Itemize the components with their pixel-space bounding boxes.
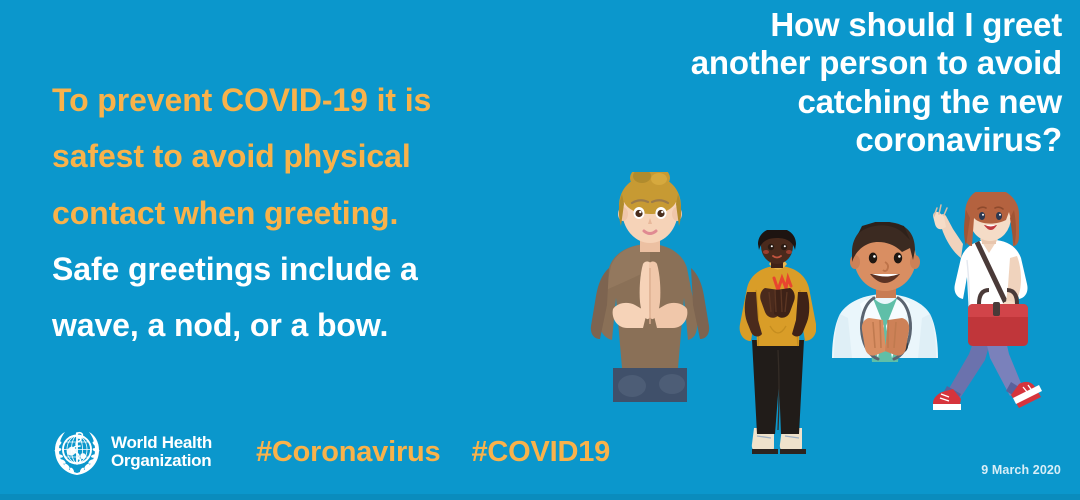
who-wordmark: World Health Organization — [111, 434, 212, 470]
who-wordmark-line-1: World Health — [111, 434, 212, 452]
doctor-hands-on-chest-greeting-figure — [828, 222, 943, 374]
woman-namaste-greeting-figure — [580, 172, 720, 407]
advice-line-5: wave, a nod, or a bow. — [52, 297, 572, 353]
hashtag-group: #Coronavirus #COVID19 — [256, 436, 610, 469]
headline-line-2: another person to avoid — [562, 44, 1062, 82]
headline-question: How should I greet another person to avo… — [562, 6, 1062, 160]
who-wordmark-line-2: Organization — [111, 452, 212, 470]
headline-line-4: coronavirus? — [562, 121, 1062, 159]
hashtag-coronavirus[interactable]: #Coronavirus — [256, 436, 441, 469]
headline-line-3: catching the new — [562, 83, 1062, 121]
footer-branding: World Health Organization #Coronavirus #… — [52, 426, 610, 478]
advice-line-4: Safe greetings include a — [52, 241, 572, 297]
person-hand-on-heart-greeting-figure — [738, 230, 816, 462]
publication-date: 9 March 2020 — [981, 463, 1061, 477]
who-covid19-greeting-poster: How should I greet another person to avo… — [0, 0, 1080, 500]
woman-waving-greeting-figure — [933, 192, 1048, 420]
advice-line-2: safest to avoid physical — [52, 128, 572, 184]
advice-line-3: contact when greeting. — [52, 185, 572, 241]
advice-line-1: To prevent COVID-19 it is — [52, 72, 572, 128]
advice-message: To prevent COVID-19 it is safest to avoi… — [52, 72, 572, 354]
who-emblem-icon — [52, 427, 102, 477]
headline-line-1: How should I greet — [562, 6, 1062, 44]
hashtag-covid19[interactable]: #COVID19 — [471, 436, 610, 469]
greeting-illustrations — [575, 160, 1080, 480]
bottom-strip — [0, 494, 1080, 500]
